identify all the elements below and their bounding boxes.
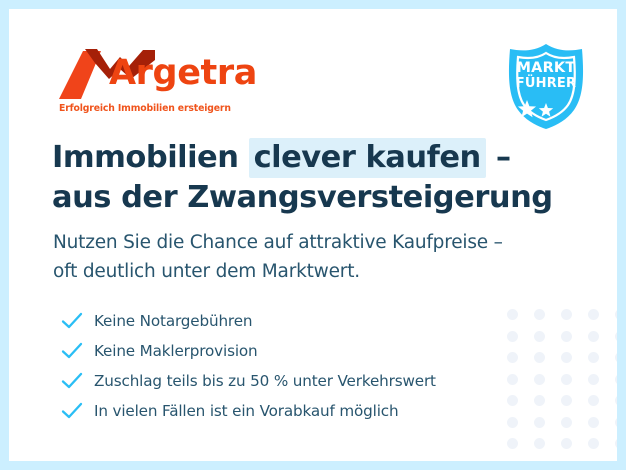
dot	[615, 309, 617, 320]
check-icon	[61, 312, 87, 330]
dot	[588, 352, 599, 363]
dot	[561, 374, 572, 385]
benefits-list: Keine Notargebühren Keine Maklerprovisio…	[61, 306, 531, 426]
list-item: Keine Notargebühren	[61, 306, 531, 336]
card-content-area: Argetra Erfolgreich Immobilien ersteiger…	[9, 9, 617, 461]
market-leader-badge: MARKT FÜHRER	[496, 40, 596, 132]
dot	[561, 395, 572, 406]
subtitle-line-1: Nutzen Sie die Chance auf attraktive Kau…	[53, 229, 573, 258]
page-title: Immobilien clever kaufen – aus der Zwang…	[52, 138, 572, 217]
shield-badge-icon	[496, 40, 596, 132]
list-item: Zuschlag teils bis zu 50 % unter Verkehr…	[61, 366, 531, 396]
headline-post: –	[486, 140, 511, 175]
dot	[534, 438, 545, 449]
dot	[615, 417, 617, 428]
dot	[507, 438, 518, 449]
dot	[588, 374, 599, 385]
subtitle: Nutzen Sie die Chance auf attraktive Kau…	[53, 229, 573, 286]
list-item: Keine Maklerprovision	[61, 336, 531, 366]
dot	[588, 309, 599, 320]
list-item-label: Zuschlag teils bis zu 50 % unter Verkehr…	[87, 372, 436, 390]
brand-logo[interactable]: Argetra Erfolgreich Immobilien ersteiger…	[57, 47, 267, 119]
logo-wordmark: Argetra	[109, 56, 257, 91]
check-icon	[61, 402, 87, 420]
advertisement-card: Argetra Erfolgreich Immobilien ersteiger…	[0, 0, 626, 470]
dot	[615, 352, 617, 363]
list-item-label: In vielen Fällen ist ein Vorabkauf mögli…	[87, 402, 399, 420]
subtitle-line-2: oft deutlich unter dem Marktwert.	[53, 258, 573, 287]
list-item: In vielen Fällen ist ein Vorabkauf mögli…	[61, 396, 531, 426]
headline-line-1: Immobilien clever kaufen –	[52, 138, 572, 178]
dot	[561, 331, 572, 342]
dot	[615, 438, 617, 449]
dot	[534, 417, 545, 428]
dot	[534, 352, 545, 363]
headline-highlight: clever kaufen	[249, 138, 486, 178]
dot	[615, 395, 617, 406]
dot	[561, 352, 572, 363]
dot	[588, 438, 599, 449]
dot	[588, 331, 599, 342]
logo-tagline: Erfolgreich Immobilien ersteigern	[59, 103, 231, 114]
dot	[561, 309, 572, 320]
check-icon	[61, 342, 87, 360]
dot	[615, 331, 617, 342]
dot	[561, 417, 572, 428]
dot	[534, 309, 545, 320]
dot	[615, 374, 617, 385]
headline-line-2: aus der Zwangsversteigerung	[52, 178, 572, 218]
dot	[561, 438, 572, 449]
list-item-label: Keine Notargebühren	[87, 312, 252, 330]
dot	[534, 374, 545, 385]
dot	[588, 417, 599, 428]
check-icon	[61, 372, 87, 390]
list-item-label: Keine Maklerprovision	[87, 342, 258, 360]
headline-pre: Immobilien	[52, 140, 249, 175]
dot	[534, 331, 545, 342]
dot	[534, 395, 545, 406]
dot	[588, 395, 599, 406]
